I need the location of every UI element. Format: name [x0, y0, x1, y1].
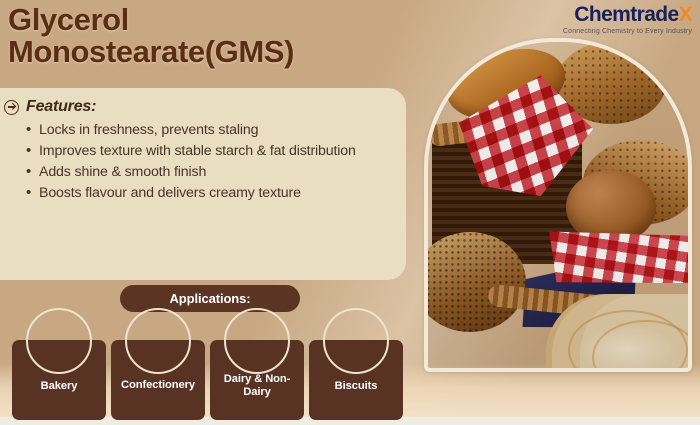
dairy-photo [224, 308, 290, 374]
features-header: Features: [4, 98, 392, 116]
brand-name: ChemtradeX [563, 4, 692, 25]
biscuits-photo [323, 308, 389, 374]
title-line-2: Monostearate(GMS) [8, 36, 408, 68]
applications-card-row: Bakery Confectionery Dairy & Non-Dairy B… [12, 336, 404, 418]
brand-logo[interactable]: ChemtradeX Connecting Chemistry to Every… [563, 4, 692, 35]
application-card-label: Dairy & Non-Dairy [215, 373, 299, 400]
list-item: Improves texture with stable starch & fa… [26, 142, 392, 161]
list-item: Boosts flavour and delivers creamy textu… [26, 184, 392, 203]
features-heading: Features: [26, 98, 96, 116]
confectionery-photo [125, 308, 191, 374]
features-panel: Features: Locks in freshness, prevents s… [0, 88, 406, 280]
hero-photo-shading [428, 42, 688, 368]
application-card-label: Biscuits [335, 380, 378, 393]
brand-tagline: Connecting Chemistry to Every Industry [563, 28, 692, 35]
features-list: Locks in freshness, prevents staling Imp… [26, 121, 392, 203]
brand-name-accent: X [679, 3, 692, 26]
application-card-confectionery[interactable]: Confectionery [111, 340, 205, 420]
brand-name-primary: Chemtrade [574, 3, 678, 26]
circle-arrow-right-icon [4, 100, 19, 115]
application-card-biscuits[interactable]: Biscuits [309, 340, 403, 420]
application-card-label: Confectionery [121, 379, 195, 392]
applications-badge: Applications: [120, 285, 300, 312]
title-line-1: Glycerol [8, 4, 408, 36]
application-card-bakery[interactable]: Bakery [12, 340, 106, 420]
application-card-label: Bakery [41, 380, 78, 393]
application-card-dairy[interactable]: Dairy & Non-Dairy [210, 340, 304, 420]
bakery-photo [26, 308, 92, 374]
page-title: Glycerol Monostearate(GMS) [8, 4, 408, 68]
list-item: Adds shine & smooth finish [26, 163, 392, 182]
bread-basket-photo [424, 38, 692, 372]
list-item: Locks in freshness, prevents staling [26, 121, 392, 140]
